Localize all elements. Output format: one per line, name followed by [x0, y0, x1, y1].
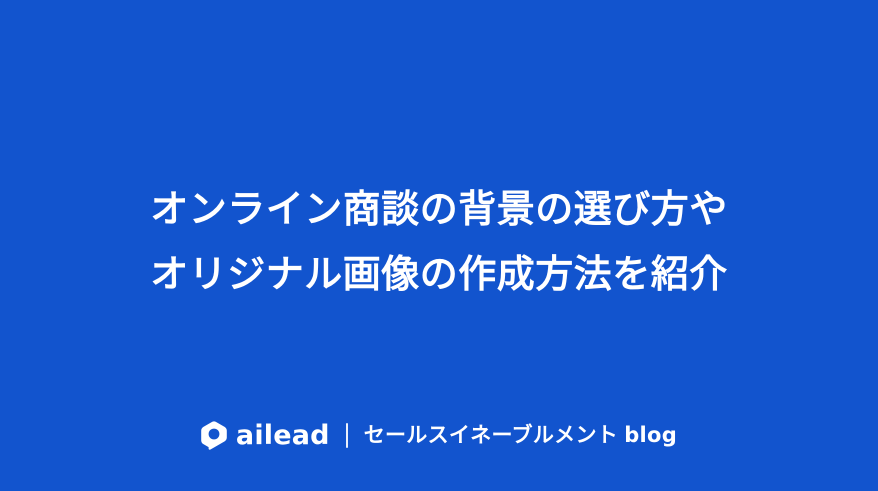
page-title: オンライン商談の背景の選び方や オリジナル画像の作成方法を紹介	[0, 178, 878, 308]
brand-tagline-en: blog	[624, 423, 677, 447]
brand-tagline-jp: セールスイネーブルメント	[364, 424, 618, 447]
title-line-2: オリジナル画像の作成方法を紹介	[150, 243, 728, 308]
title-line-1: オンライン商談の背景の選び方や	[150, 178, 728, 243]
blog-cover-slide: オンライン商談の背景の選び方や オリジナル画像の作成方法を紹介 ailead セ…	[0, 0, 878, 491]
ailead-hexagon-mark-icon	[201, 421, 227, 450]
brand-tagline: セールスイネーブルメント blog	[364, 425, 677, 446]
brand-divider	[346, 423, 348, 448]
brand-wordmark: ailead	[236, 422, 330, 449]
brand-lockup: ailead セールスイネーブルメント blog	[0, 421, 878, 450]
